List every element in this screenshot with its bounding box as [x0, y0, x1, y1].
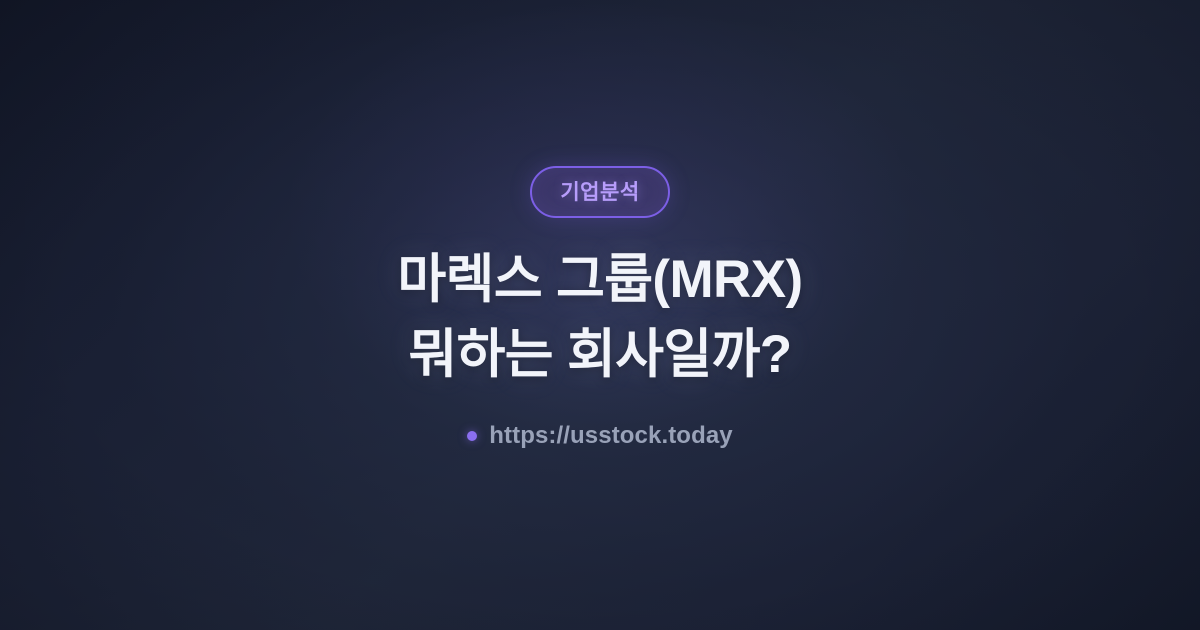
card-title-line-2: 뭐하는 회사일까?	[398, 321, 803, 390]
bullet-dot-icon	[467, 431, 477, 441]
og-share-card: 기업분석 마렉스 그룹(MRX) 뭐하는 회사일까? https://ussto…	[0, 0, 1200, 630]
site-url-label: https://usstock.today	[489, 424, 732, 448]
category-badge-label: 기업분석	[560, 182, 639, 203]
card-content: 기업분석 마렉스 그룹(MRX) 뭐하는 회사일까? https://ussto…	[80, 166, 1120, 448]
card-title-line-1: 마렉스 그룹(MRX)	[398, 246, 803, 315]
card-title: 마렉스 그룹(MRX) 뭐하는 회사일까?	[398, 246, 803, 390]
category-badge: 기업분석	[530, 166, 669, 218]
site-url-row: https://usstock.today	[467, 424, 732, 448]
